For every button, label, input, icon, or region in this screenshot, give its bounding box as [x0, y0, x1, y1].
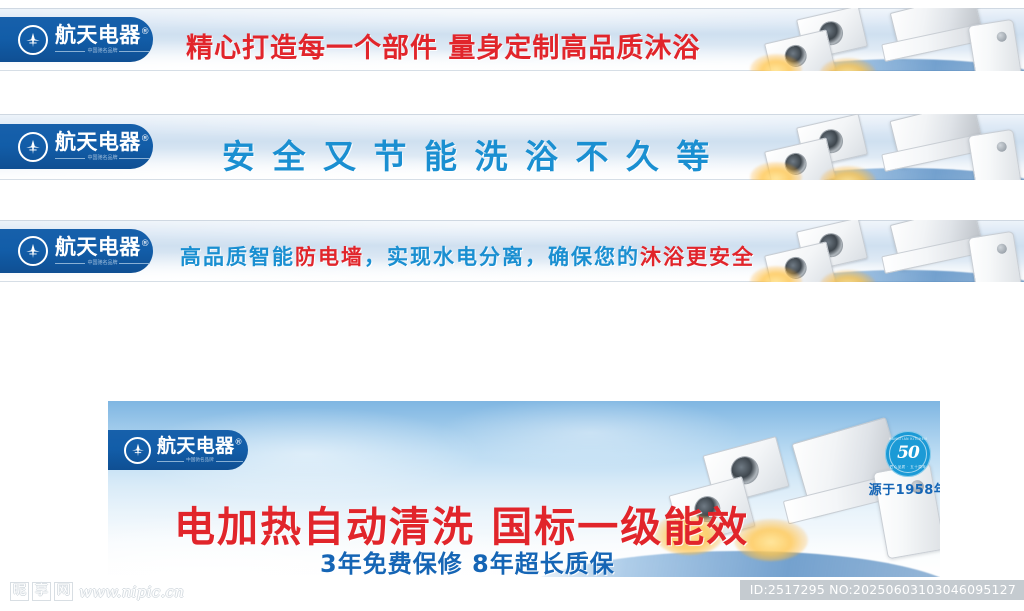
brand-logo-text: 航天电器® 中国驰名品牌: [55, 132, 150, 161]
main-subline: 3年免费保修 8年超长质保: [320, 544, 615, 577]
anniversary-number: 50: [885, 431, 931, 477]
banner-top-border-3: [0, 220, 1024, 221]
brand-tagline: 中国驰名品牌: [87, 261, 117, 266]
brand-logo-text: 航天电器® 中国驰名品牌: [157, 437, 243, 464]
banner-strip-main: 航天电器® 中国驰名品牌 HANGTIAN KITCHEN 50 匠心品质 · …: [108, 401, 940, 577]
brand-tagline: 中国驰名品牌: [87, 156, 117, 161]
registered-mark: ®: [141, 134, 150, 144]
banner-strip-2: 航天电器® 中国驰名品牌 安 全 又 节 能 洗 浴 不 久 等: [0, 114, 1024, 180]
banner-bottom-border-2: [0, 179, 1024, 180]
product-art-1: [764, 8, 1024, 71]
product-art-3: [764, 220, 1024, 282]
banner-strip-3: 航天电器® 中国驰名品牌 高品质智能防电墙，实现水电分离，确保您的沐浴更安全: [0, 220, 1024, 282]
banner-bottom-border-3: [0, 281, 1024, 282]
brand-name: 航天电器: [55, 23, 141, 47]
brand-tagline: 中国驰名品牌: [186, 459, 214, 464]
banner-3-seg-2: 防电墙: [295, 245, 364, 269]
watermark: 昵 享 网 www.nipic.cn: [10, 582, 184, 601]
brand-logo-text: 航天电器® 中国驰名品牌: [55, 25, 150, 54]
tagline-dash-left: [55, 263, 85, 264]
banner-3-seg-4: 沐浴更安全: [640, 245, 755, 269]
anniversary-since-year: 源于1958年: [853, 479, 940, 498]
tagline-dash-right: [119, 51, 149, 52]
banner-1-headline: 精心打造每一个部件 量身定制高品质沐浴: [186, 26, 700, 65]
brand-name: 航天电器: [55, 235, 141, 259]
brand-logo-pill[interactable]: 航天电器® 中国驰名品牌: [0, 229, 153, 273]
aerospace-emblem-icon: [124, 437, 151, 464]
tagline-dash-right: [216, 461, 243, 462]
tagline-dash-right: [119, 263, 149, 264]
tagline-dash-left: [55, 51, 85, 52]
aerospace-emblem-icon: [18, 25, 48, 55]
anniversary-badge: HANGTIAN KITCHEN 50 匠心品质 · 五十周年 源于1958年: [853, 431, 940, 498]
anniversary-circle-icon: HANGTIAN KITCHEN 50 匠心品质 · 五十周年: [885, 431, 931, 477]
registered-mark: ®: [141, 27, 150, 37]
tagline-dash-left: [55, 158, 85, 159]
watermark-logo-boxes: 昵 享 网: [10, 582, 73, 601]
product-art-2: [764, 114, 1024, 180]
banner-2-headline: 安 全 又 节 能 洗 浴 不 久 等: [222, 130, 712, 178]
aerospace-emblem-icon: [18, 236, 48, 266]
registered-mark: ®: [235, 437, 243, 446]
banner-top-border-2: [0, 114, 1024, 115]
banner-3-headline: 高品质智能防电墙，实现水电分离，确保您的沐浴更安全: [180, 241, 755, 271]
tagline-dash-left: [157, 461, 184, 462]
registered-mark: ®: [141, 239, 150, 249]
brand-name: 航天电器: [55, 130, 141, 154]
brand-logo-pill[interactable]: 航天电器® 中国驰名品牌: [108, 430, 248, 470]
image-id-strip: ID:2517295 NO:20250603103046095127: [740, 580, 1024, 600]
banner-3-seg-1: 高品质智能: [180, 245, 295, 269]
banner-strip-1: 航天电器® 中国驰名品牌 精心打造每一个部件 量身定制高品质沐浴: [0, 8, 1024, 71]
anniversary-arc-bottom: 匠心品质 · 五十周年: [885, 465, 931, 470]
banner-bottom-border-1: [0, 70, 1024, 71]
brand-logo-text: 航天电器® 中国驰名品牌: [55, 237, 150, 266]
watermark-url: www.nipic.cn: [79, 583, 184, 601]
tagline-dash-right: [119, 158, 149, 159]
brand-tagline: 中国驰名品牌: [87, 49, 117, 54]
banner-3-seg-3: ，实现水电分离，确保您的: [364, 245, 640, 269]
aerospace-emblem-icon: [18, 132, 48, 162]
watermark-box-2: 享: [32, 582, 51, 601]
banner-top-border-1: [0, 8, 1024, 9]
brand-logo-pill[interactable]: 航天电器® 中国驰名品牌: [0, 17, 153, 62]
watermark-box-3: 网: [54, 582, 73, 601]
brand-logo-pill[interactable]: 航天电器® 中国驰名品牌: [0, 124, 153, 169]
brand-name: 航天电器: [157, 435, 235, 457]
watermark-box-1: 昵: [10, 582, 29, 601]
